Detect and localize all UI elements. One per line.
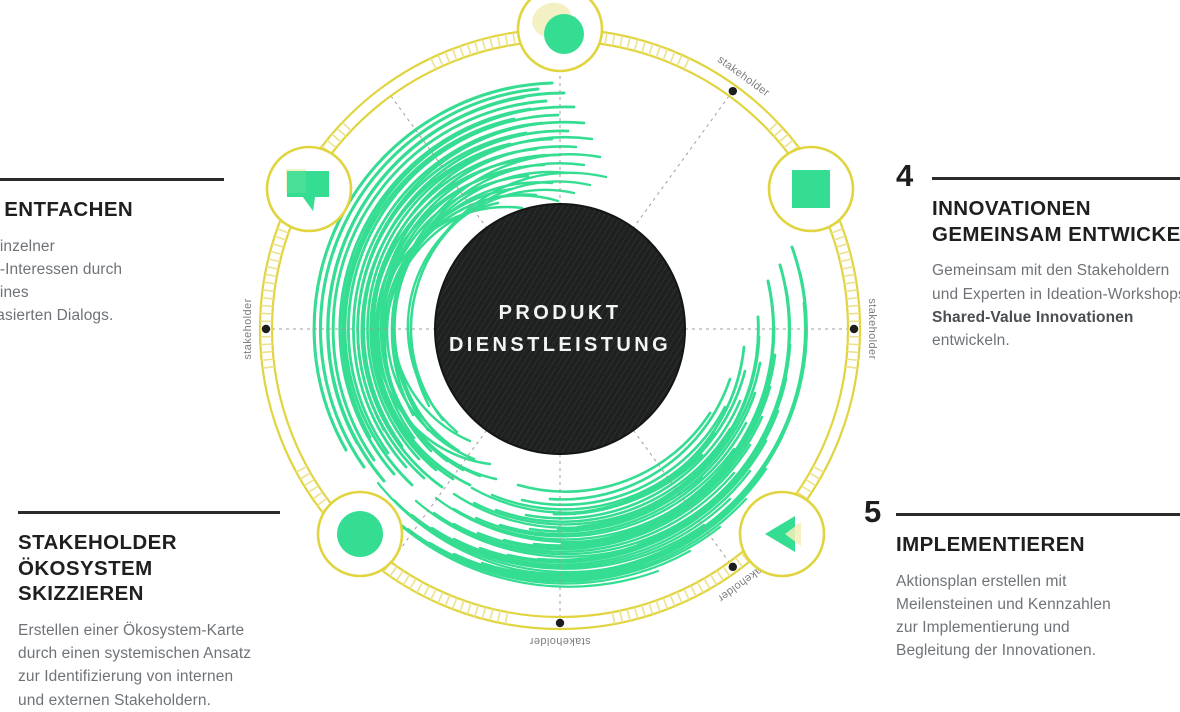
body-line: und externen Stakeholdern. [18, 689, 282, 712]
body-line-emphasis: Shared-Value Innovationen [932, 306, 1180, 329]
core-disc [435, 204, 685, 454]
step-heading-dialog: DIALOG ENTFACHEN [0, 197, 224, 223]
divider-rule [18, 511, 280, 514]
body-line: Aktionsplan erstellen mit [896, 570, 1180, 593]
step-body-innovationen: Gemeinsam mit den Stakeholdern und Exper… [932, 259, 1180, 352]
body-line: Empathie-basierten Dialogs. [0, 304, 224, 327]
ring-node-dot [729, 87, 737, 95]
stakeholder-bottom: stakeholder [529, 635, 590, 647]
body-line: Verstehen einzelner [0, 235, 224, 258]
step-body-implementieren: Aktionsplan erstellen mit Meilensteinen … [896, 570, 1180, 663]
ring-node-dot [850, 325, 858, 333]
node-icon-lower-right[interactable] [740, 492, 824, 576]
divider-rule [896, 513, 1180, 516]
body-line: Begleitung der Innovationen. [896, 639, 1180, 662]
body-line: Etablieren eines [0, 281, 224, 304]
step-heading-implementieren: IMPLEMENTIEREN [896, 532, 1180, 558]
body-line: Stakeholder-Interessen durch [0, 258, 224, 281]
ring-node-dot [262, 325, 270, 333]
step-number-5: 5 [864, 496, 881, 527]
step-body-dialog: Verstehen einzelner Stakeholder-Interess… [0, 235, 224, 328]
heading-line: GEMEINSAM ENTWICKELN [932, 222, 1180, 248]
body-line: und Experten in Ideation-Workshops [932, 283, 1180, 306]
divider-rule [0, 178, 224, 181]
body-line: zur Implementierung und [896, 616, 1180, 639]
node-icon-upper-left[interactable] [267, 147, 351, 231]
heading-line: INNOVATIONEN [932, 196, 1180, 222]
ring-node-dot [556, 619, 564, 627]
core-label-line1: PRODUKT [499, 302, 622, 324]
node-icon-upper-right[interactable] [769, 147, 853, 231]
heading-line: STAKEHOLDER [18, 530, 282, 556]
core-label-line2: DIENSTLEISTUNG [449, 334, 671, 356]
step-card-implementieren: 5 IMPLEMENTIEREN Aktionsplan erstellen m… [896, 513, 1180, 663]
infographic-canvas: PRODUKT DIENSTLEISTUNG stakeholderstakeh… [0, 0, 1180, 682]
body-line: zur Identifizierung von internen [18, 665, 282, 688]
step-heading-innovationen: INNOVATIONEN GEMEINSAM ENTWICKELN [932, 196, 1180, 247]
stakeholder-cycle-diagram: PRODUKT DIENSTLEISTUNG stakeholderstakeh… [239, 0, 881, 680]
body-line: Erstellen einer Ökosystem-Karte [18, 619, 282, 642]
step-card-dialog: DIALOG ENTFACHEN Verstehen einzelner Sta… [0, 178, 224, 328]
emphasis-text: Shared-Value Innovationen [932, 309, 1133, 326]
body-line: entwickeln. [932, 329, 1180, 352]
heading-line: ÖKOSYSTEM SKIZZIEREN [18, 556, 282, 607]
step-card-innovationen: 4 INNOVATIONEN GEMEINSAM ENTWICKELN Geme… [932, 177, 1180, 352]
step-heading-oekosystem: STAKEHOLDER ÖKOSYSTEM SKIZZIEREN [18, 530, 282, 607]
step-number-4: 4 [896, 160, 913, 191]
divider-rule [932, 177, 1180, 180]
stakeholder-right: stakeholder [866, 298, 878, 359]
ring-node-dot [729, 563, 737, 571]
body-line: Gemeinsam mit den Stakeholdern [932, 259, 1180, 282]
body-line: Meilensteinen und Kennzahlen [896, 593, 1180, 616]
stakeholder-left: stakeholder [242, 298, 254, 359]
body-line: durch einen systemischen Ansatz [18, 642, 282, 665]
node-icon-top[interactable] [518, 0, 602, 71]
step-body-oekosystem: Erstellen einer Ökosystem-Karte durch ei… [18, 619, 282, 712]
node-icon-lower-left[interactable] [318, 492, 402, 576]
